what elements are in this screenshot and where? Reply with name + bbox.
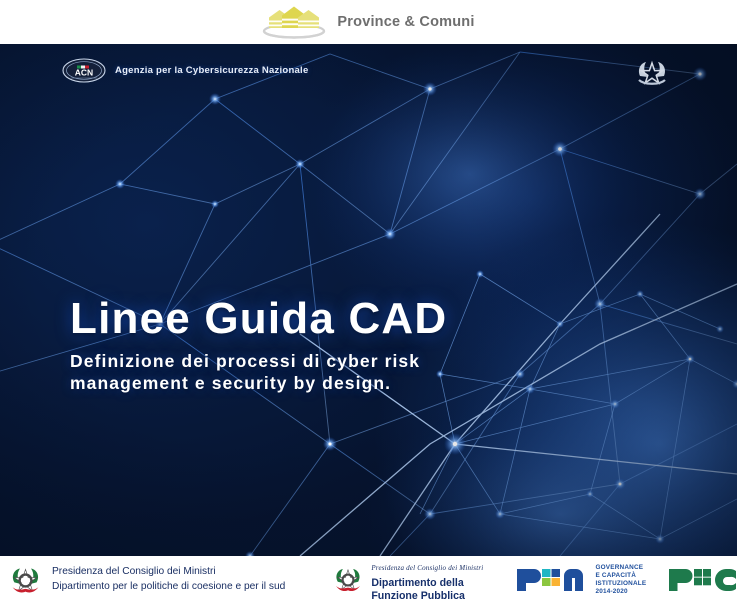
pon-logo-icon — [515, 565, 589, 595]
poc-logo-icon — [668, 565, 737, 595]
footer-pcm-line-1: Presidenza del Consiglio dei Ministri — [52, 566, 216, 577]
hero-top-row: ACN Agenzia per la Cybersicurezza Nazion… — [0, 54, 737, 94]
footer-dfp-script: Presidenza del Consiglio dei Ministri — [371, 564, 483, 572]
acn-agency-label: Agenzia per la Cybersicurezza Nazionale — [115, 65, 308, 76]
footer-pon-text: GOVERNANCE E CAPACITÀ ISTITUZIONALE 2014… — [595, 564, 646, 597]
footer-dfp-line-1: Dipartimento della — [371, 577, 483, 591]
footer-pcm-text: Presidenza del Consiglio dei Ministri Di… — [52, 565, 285, 595]
italian-republic-emblem-icon — [632, 54, 672, 94]
province-comuni-brand[interactable]: Province & Comuni — [262, 5, 474, 39]
svg-text:ACN: ACN — [75, 68, 93, 78]
footer-dfp-text: Presidenza del Consiglio dei Ministri Di… — [371, 556, 483, 604]
footer-pon-line-1: GOVERNANCE — [595, 564, 643, 571]
cover-page: Province & Comuni — [0, 0, 737, 604]
footer-pon-line-3: ISTITUZIONALE — [595, 580, 646, 587]
footer-dfp-line-2: Funzione Pubblica — [371, 590, 483, 604]
footer-logo-pcm: Presidenza del Consiglio dei Ministri Di… — [7, 556, 285, 604]
subtitle-line-2: management e security by design. — [70, 373, 670, 394]
subtitle-line-1: Definizione dei processi di cyber risk — [70, 351, 670, 372]
footer-logo-dfp: Presidenza del Consiglio dei Ministri Di… — [331, 556, 483, 604]
cover-hero: ACN Agenzia per la Cybersicurezza Nazion… — [0, 44, 737, 556]
province-comuni-title: Province & Comuni — [337, 14, 474, 30]
acn-badge-icon: ACN — [62, 58, 106, 83]
italian-republic-emblem-icon — [331, 563, 365, 597]
page-subtitle: Definizione dei processi di cyber risk m… — [70, 351, 670, 394]
footer-pcm-line-2: Dipartimento per le politiche di coesion… — [52, 581, 285, 592]
footer-pon-line-2: E CAPACITÀ — [595, 572, 636, 579]
page-title: Linee Guida CAD — [70, 296, 670, 342]
footer-logo-poc: PROGRAMMA OPERATIVO COMPLEMENTARE — [668, 556, 737, 604]
acn-agency-block: ACN Agenzia per la Cybersicurezza Nazion… — [62, 58, 308, 83]
italian-republic-emblem-icon — [7, 562, 44, 599]
hero-text-block: Linee Guida CAD Definizione dei processi… — [70, 296, 670, 394]
footer-logo-pon: GOVERNANCE E CAPACITÀ ISTITUZIONALE 2014… — [515, 556, 646, 604]
footer-pon-line-4: 2014-2020 — [595, 588, 627, 595]
top-header: Province & Comuni — [0, 0, 737, 44]
province-comuni-houses-icon — [262, 5, 326, 39]
footer-logo-bar: Presidenza del Consiglio dei Ministri Di… — [0, 556, 737, 604]
